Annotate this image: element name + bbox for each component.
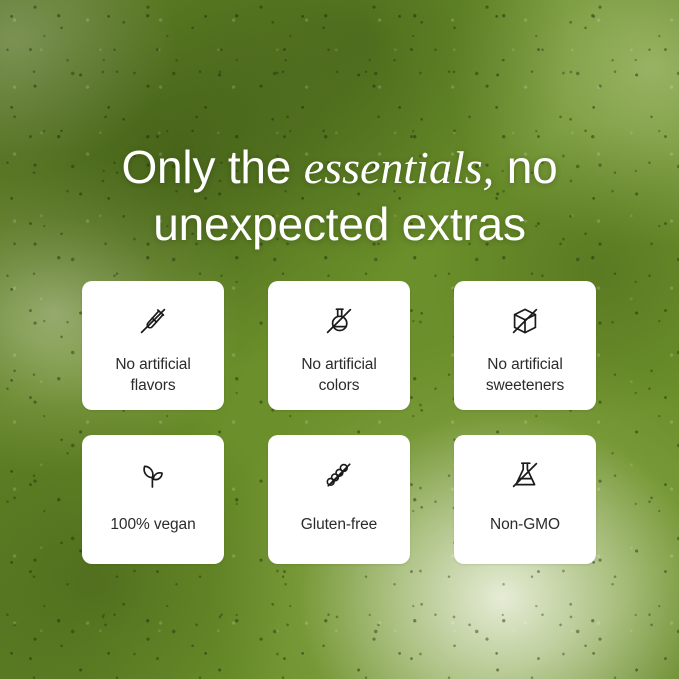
- promo-banner: Only the essentials, no unexpected extra…: [0, 0, 679, 679]
- headline-line-1: Only the essentials, no: [0, 139, 679, 197]
- claim-label: No artificial colors: [301, 355, 376, 397]
- claim-label-line-1: No artificial: [487, 356, 562, 373]
- claim-label-line-2: sweeteners: [486, 377, 564, 394]
- claim-card-no-artificial-colors[interactable]: No artificial colors: [268, 281, 410, 410]
- claim-label: Gluten-free: [301, 515, 377, 536]
- claim-card-vegan[interactable]: 100% vegan: [82, 435, 224, 564]
- page-title: Only the essentials, no unexpected extra…: [0, 139, 679, 254]
- claim-label-line-1: No artificial: [115, 356, 190, 373]
- claim-label-line-2: colors: [319, 377, 360, 394]
- claim-label-line-1: Gluten-free: [301, 516, 377, 533]
- claim-label: No artificial flavors: [115, 355, 190, 397]
- claim-label: Non-GMO: [490, 515, 560, 536]
- round-flask-crossed-out-icon: [319, 301, 359, 341]
- claim-card-no-artificial-flavors[interactable]: No artificial flavors: [82, 281, 224, 410]
- claim-card-non-gmo[interactable]: Non-GMO: [454, 435, 596, 564]
- test-tube-crossed-out-icon: [133, 301, 173, 341]
- claim-label: 100% vegan: [110, 515, 195, 536]
- headline-text-before: Only the: [121, 141, 303, 193]
- claim-label: No artificial sweeteners: [486, 355, 564, 397]
- claim-card-no-artificial-sweeteners[interactable]: No artificial sweeteners: [454, 281, 596, 410]
- headline-emphasis: essentials,: [304, 142, 494, 193]
- claims-grid: No artificial flavors No artificial colo…: [82, 281, 597, 564]
- claim-label-line-1: 100% vegan: [110, 516, 195, 533]
- claim-label-line-1: Non-GMO: [490, 516, 560, 533]
- headline-line-2: unexpected extras: [0, 196, 679, 254]
- sprout-leaf-icon: [133, 455, 173, 495]
- claim-label-line-2: flavors: [131, 377, 176, 394]
- claim-label-line-1: No artificial: [301, 356, 376, 373]
- headline-text-after: no: [494, 141, 557, 193]
- claim-card-gluten-free[interactable]: Gluten-free: [268, 435, 410, 564]
- conical-flask-crossed-out-icon: [505, 455, 545, 495]
- sugar-cube-crossed-out-icon: [505, 301, 545, 341]
- wheat-crossed-out-icon: [319, 455, 359, 495]
